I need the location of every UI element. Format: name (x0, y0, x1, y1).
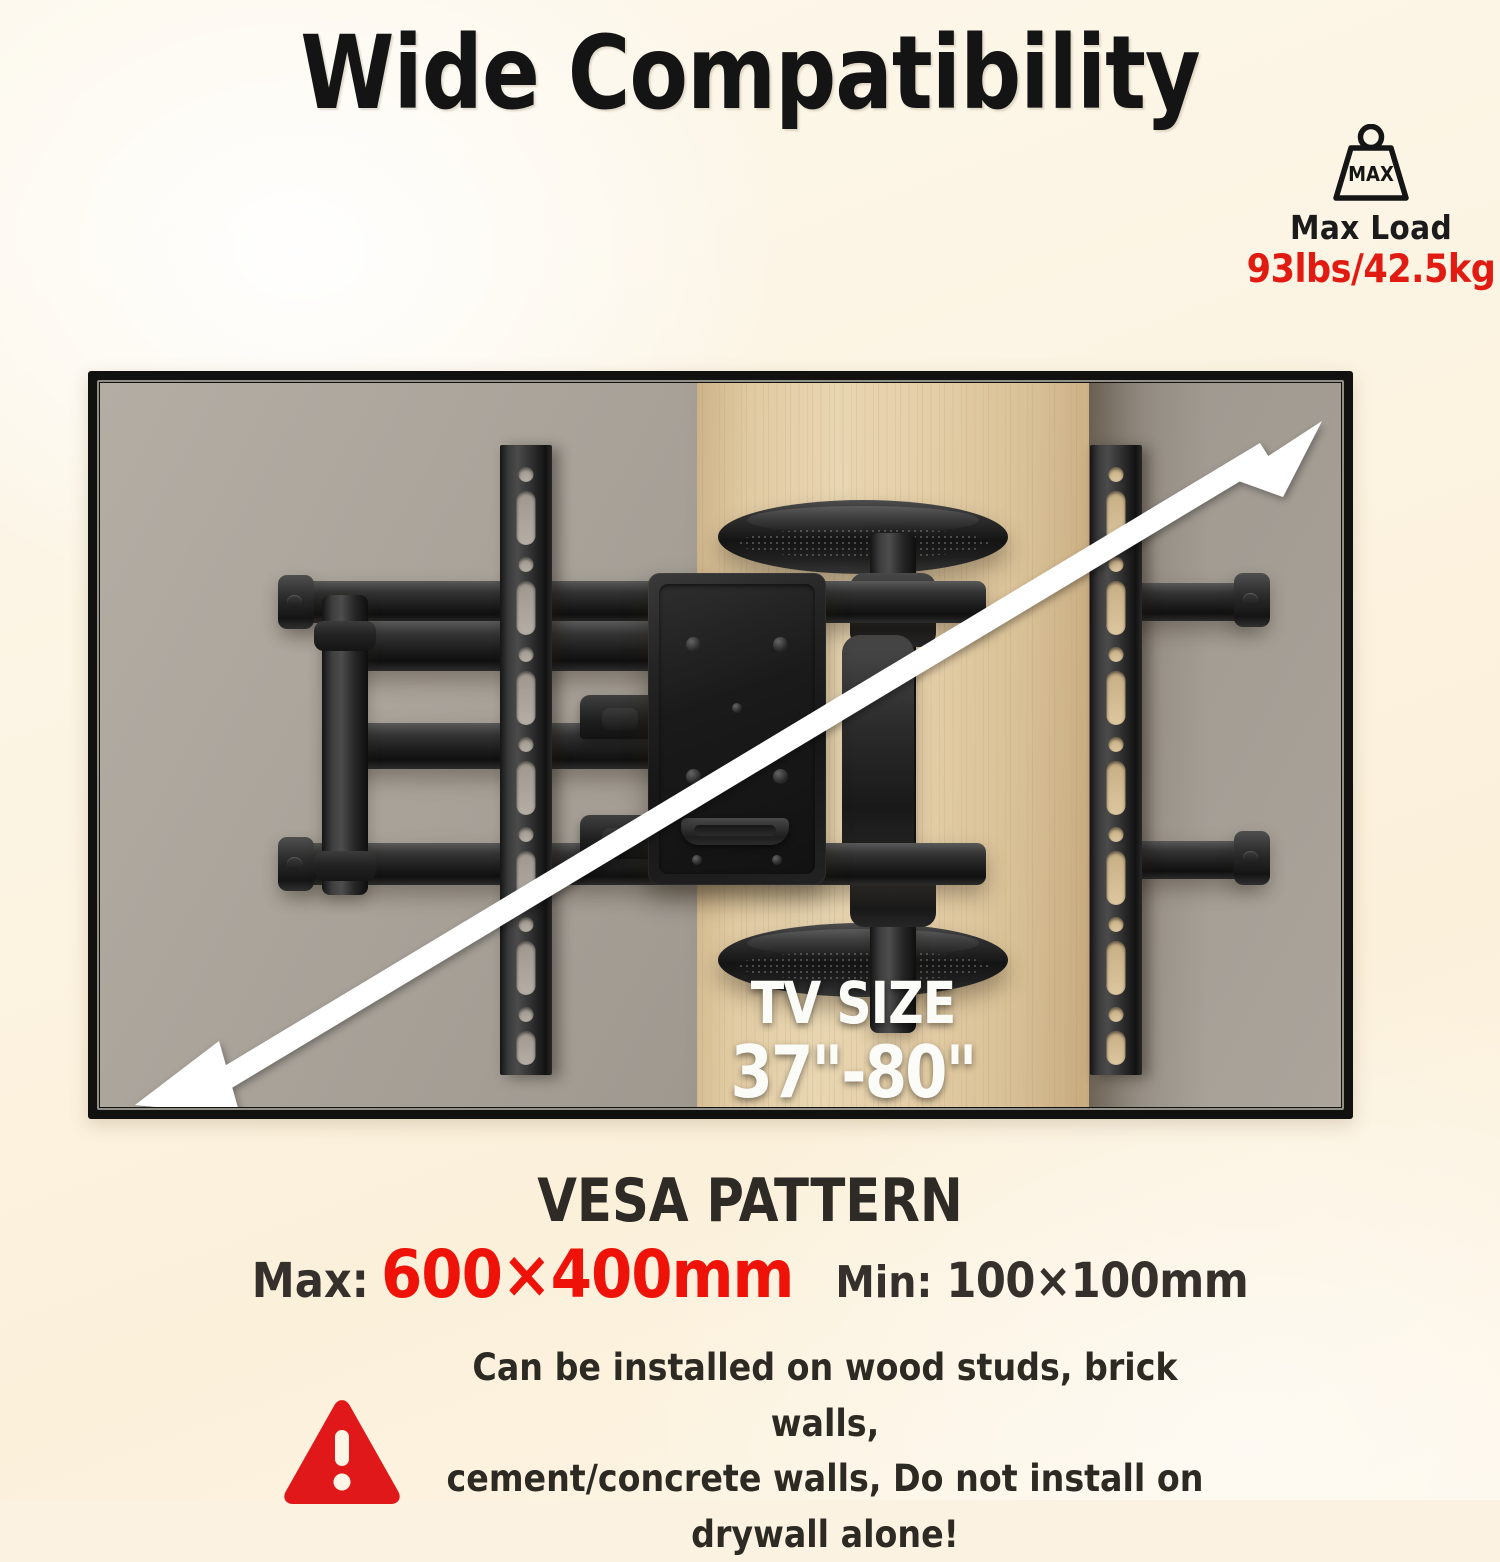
tv-size-line2: 37"-80" (698, 1035, 1008, 1110)
max-load-label: Max Load (1243, 208, 1499, 247)
vesa-specs-row: Max: 600×400mm Min: 100×100mm (0, 1236, 1500, 1313)
mount-arm-right-lower-cap (1234, 831, 1270, 885)
vesa-min-label: Min: (835, 1257, 932, 1308)
tv-photo-frame: TV SIZE 37"-80" (88, 371, 1353, 1119)
max-load-value: 93lbs/42.5kg (1243, 247, 1499, 292)
mount-arm-upper (296, 581, 986, 623)
install-warning-text: Can be installed on wood studs, brick wa… (430, 1340, 1220, 1562)
vesa-max-label: Max: (252, 1253, 369, 1309)
mount-rail-left (500, 445, 552, 1075)
mount-rail-right (1090, 445, 1142, 1075)
vesa-pattern-title: VESA PATTERN (38, 1166, 1463, 1236)
tv-size-callout: TV SIZE 37"-80" (698, 974, 1008, 1110)
mount-swivel-pillar (842, 635, 914, 865)
tv-size-line1: TV SIZE (698, 974, 1008, 1033)
max-load-badge: MAX Max Load 93lbs/42.5kg (1243, 124, 1499, 292)
install-warning: Can be installed on wood studs, brick wa… (0, 1340, 1500, 1562)
mount-elbow-joint-top (314, 621, 376, 651)
mount-top-pad (718, 500, 1008, 574)
page-title: Wide Compatibility (53, 20, 1448, 128)
warning-triangle-icon (280, 1395, 404, 1507)
vesa-mounting-plate (648, 573, 826, 885)
weight-max-icon: MAX (1321, 124, 1421, 206)
mount-elbow-joint-bottom (314, 851, 376, 881)
mount-arm-lower-cap (278, 837, 314, 891)
vesa-min-value: 100×100mm (946, 1253, 1248, 1309)
install-warning-line1: Can be installed on wood studs, brick wa… (430, 1340, 1220, 1451)
mount-arm-right-upper-cap (1234, 573, 1270, 627)
vesa-max-value: 600×400mm (381, 1236, 793, 1313)
max-icon-text: MAX (1348, 162, 1394, 186)
vesa-plate-handle (681, 818, 789, 845)
mount-arm-upper-cap (278, 575, 314, 629)
install-warning-line2: cement/concrete walls, Do not install on… (430, 1451, 1220, 1562)
infographic-page: Wide Compatibility MAX Max Load 93lbs/42… (0, 0, 1500, 1500)
